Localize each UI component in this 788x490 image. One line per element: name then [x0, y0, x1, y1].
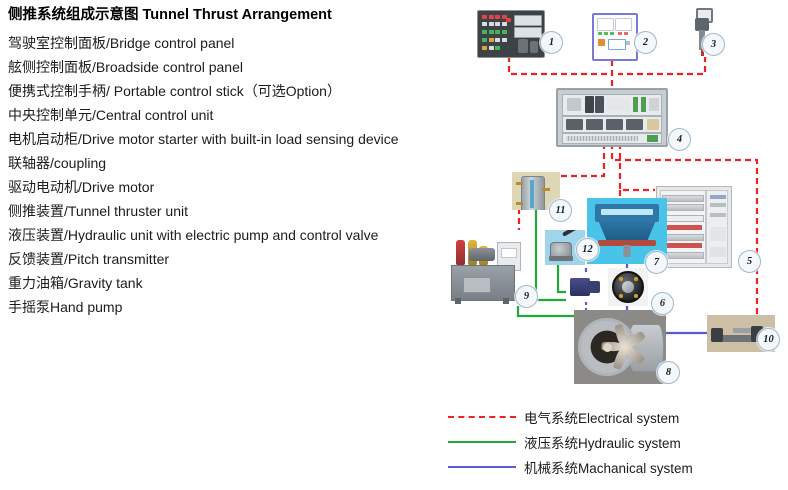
tunnel-thruster-unit-art	[574, 310, 666, 384]
legend-row-electrical: 电气系统Electrical system	[448, 404, 788, 429]
system-schematic: 1 2 3	[0, 0, 788, 395]
legend-label-mechanical: 机械系统Machanical system	[524, 457, 693, 477]
component-hydraulic-unit[interactable]	[447, 232, 525, 306]
component-broadside-control-panel[interactable]	[592, 13, 634, 57]
callout-1[interactable]: 1	[540, 31, 563, 54]
component-bridge-control-panel[interactable]	[477, 10, 543, 56]
motor-stub-art	[566, 272, 604, 302]
callout-3[interactable]: 3	[702, 33, 725, 56]
legend-label-electrical: 电气系统Electrical system	[524, 407, 679, 427]
coupling-art	[608, 268, 648, 306]
callout-12[interactable]: 12	[576, 238, 599, 261]
component-coupling[interactable]	[608, 268, 648, 306]
callout-9[interactable]: 9	[515, 285, 538, 308]
callout-8[interactable]: 8	[657, 361, 680, 384]
callout-7[interactable]: 7	[645, 251, 668, 274]
callout-5[interactable]: 5	[738, 250, 761, 273]
callout-10[interactable]: 10	[757, 328, 780, 351]
diagram-page: 侧推系统组成示意图 Tunnel Thrust Arrangement 驾驶室控…	[0, 0, 788, 490]
central-control-unit-art	[556, 88, 668, 147]
bridge-control-panel-art	[477, 10, 545, 58]
callout-4[interactable]: 4	[668, 128, 691, 151]
component-motor-stub	[566, 272, 604, 302]
component-drive-motor-starter[interactable]	[656, 186, 730, 266]
legend-row-hydraulic: 液压系统Hydraulic system	[448, 429, 788, 454]
legend-label-hydraulic: 液压系统Hydraulic system	[524, 432, 681, 452]
line-ccu-to-starter5-upper	[620, 143, 655, 190]
callout-11[interactable]: 11	[549, 199, 572, 222]
drive-motor-starter-art	[656, 186, 732, 268]
component-tunnel-thruster-unit[interactable]	[574, 310, 666, 384]
callout-6[interactable]: 6	[651, 292, 674, 315]
legend: 电气系统Electrical system 液压系统Hydraulic syst…	[448, 404, 788, 479]
broadside-control-panel-art	[592, 13, 638, 61]
legend-row-mechanical: 机械系统Machanical system	[448, 454, 788, 479]
hydraulic-unit-art	[447, 232, 525, 306]
component-central-control-unit[interactable]	[556, 88, 664, 143]
callout-2[interactable]: 2	[634, 31, 657, 54]
